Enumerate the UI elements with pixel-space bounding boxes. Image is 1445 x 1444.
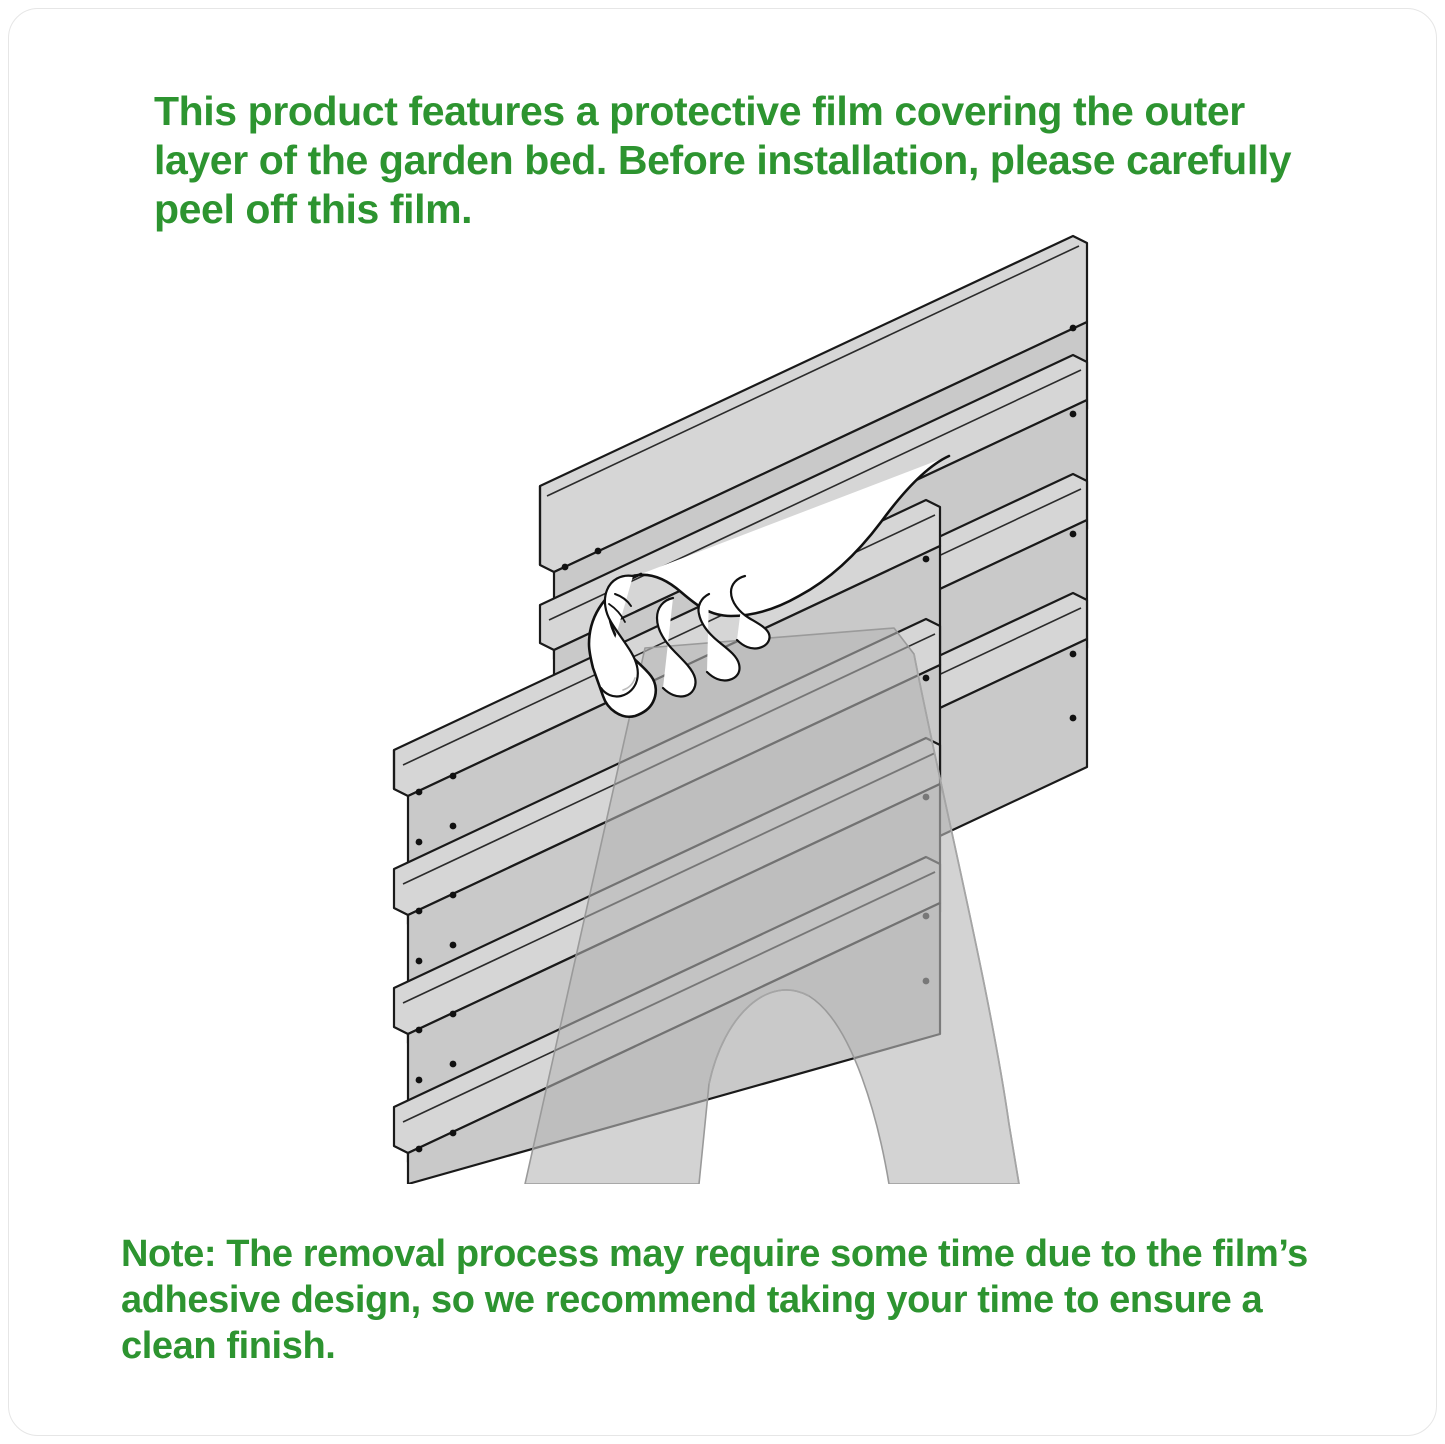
screw-hole [416, 789, 423, 796]
screw-hole [450, 823, 457, 830]
screw-hole [595, 548, 602, 555]
screw-hole [450, 892, 457, 899]
screw-hole [416, 1146, 423, 1153]
screw-hole [923, 675, 930, 682]
screw-hole [923, 556, 930, 563]
screw-hole [450, 773, 457, 780]
screw-hole [450, 1130, 457, 1137]
screw-hole [450, 1011, 457, 1018]
screw-hole [416, 1077, 423, 1084]
screw-hole [416, 839, 423, 846]
screw-hole [416, 1027, 423, 1034]
screw-hole [416, 908, 423, 915]
note-text: Note: The removal process may require so… [121, 1231, 1361, 1369]
screw-hole [1070, 715, 1077, 722]
screw-hole [1070, 325, 1077, 332]
screw-hole [1070, 651, 1077, 658]
garden-bed-film-peel-illustration [9, 224, 1437, 1184]
screw-hole [416, 958, 423, 965]
instruction-card: This product features a protective film … [8, 8, 1437, 1436]
screw-hole [450, 1061, 457, 1068]
screw-hole [450, 942, 457, 949]
screw-hole [1070, 531, 1077, 538]
screw-hole [1070, 411, 1077, 418]
screw-hole [562, 564, 569, 571]
headline-text: This product features a protective film … [154, 87, 1314, 234]
